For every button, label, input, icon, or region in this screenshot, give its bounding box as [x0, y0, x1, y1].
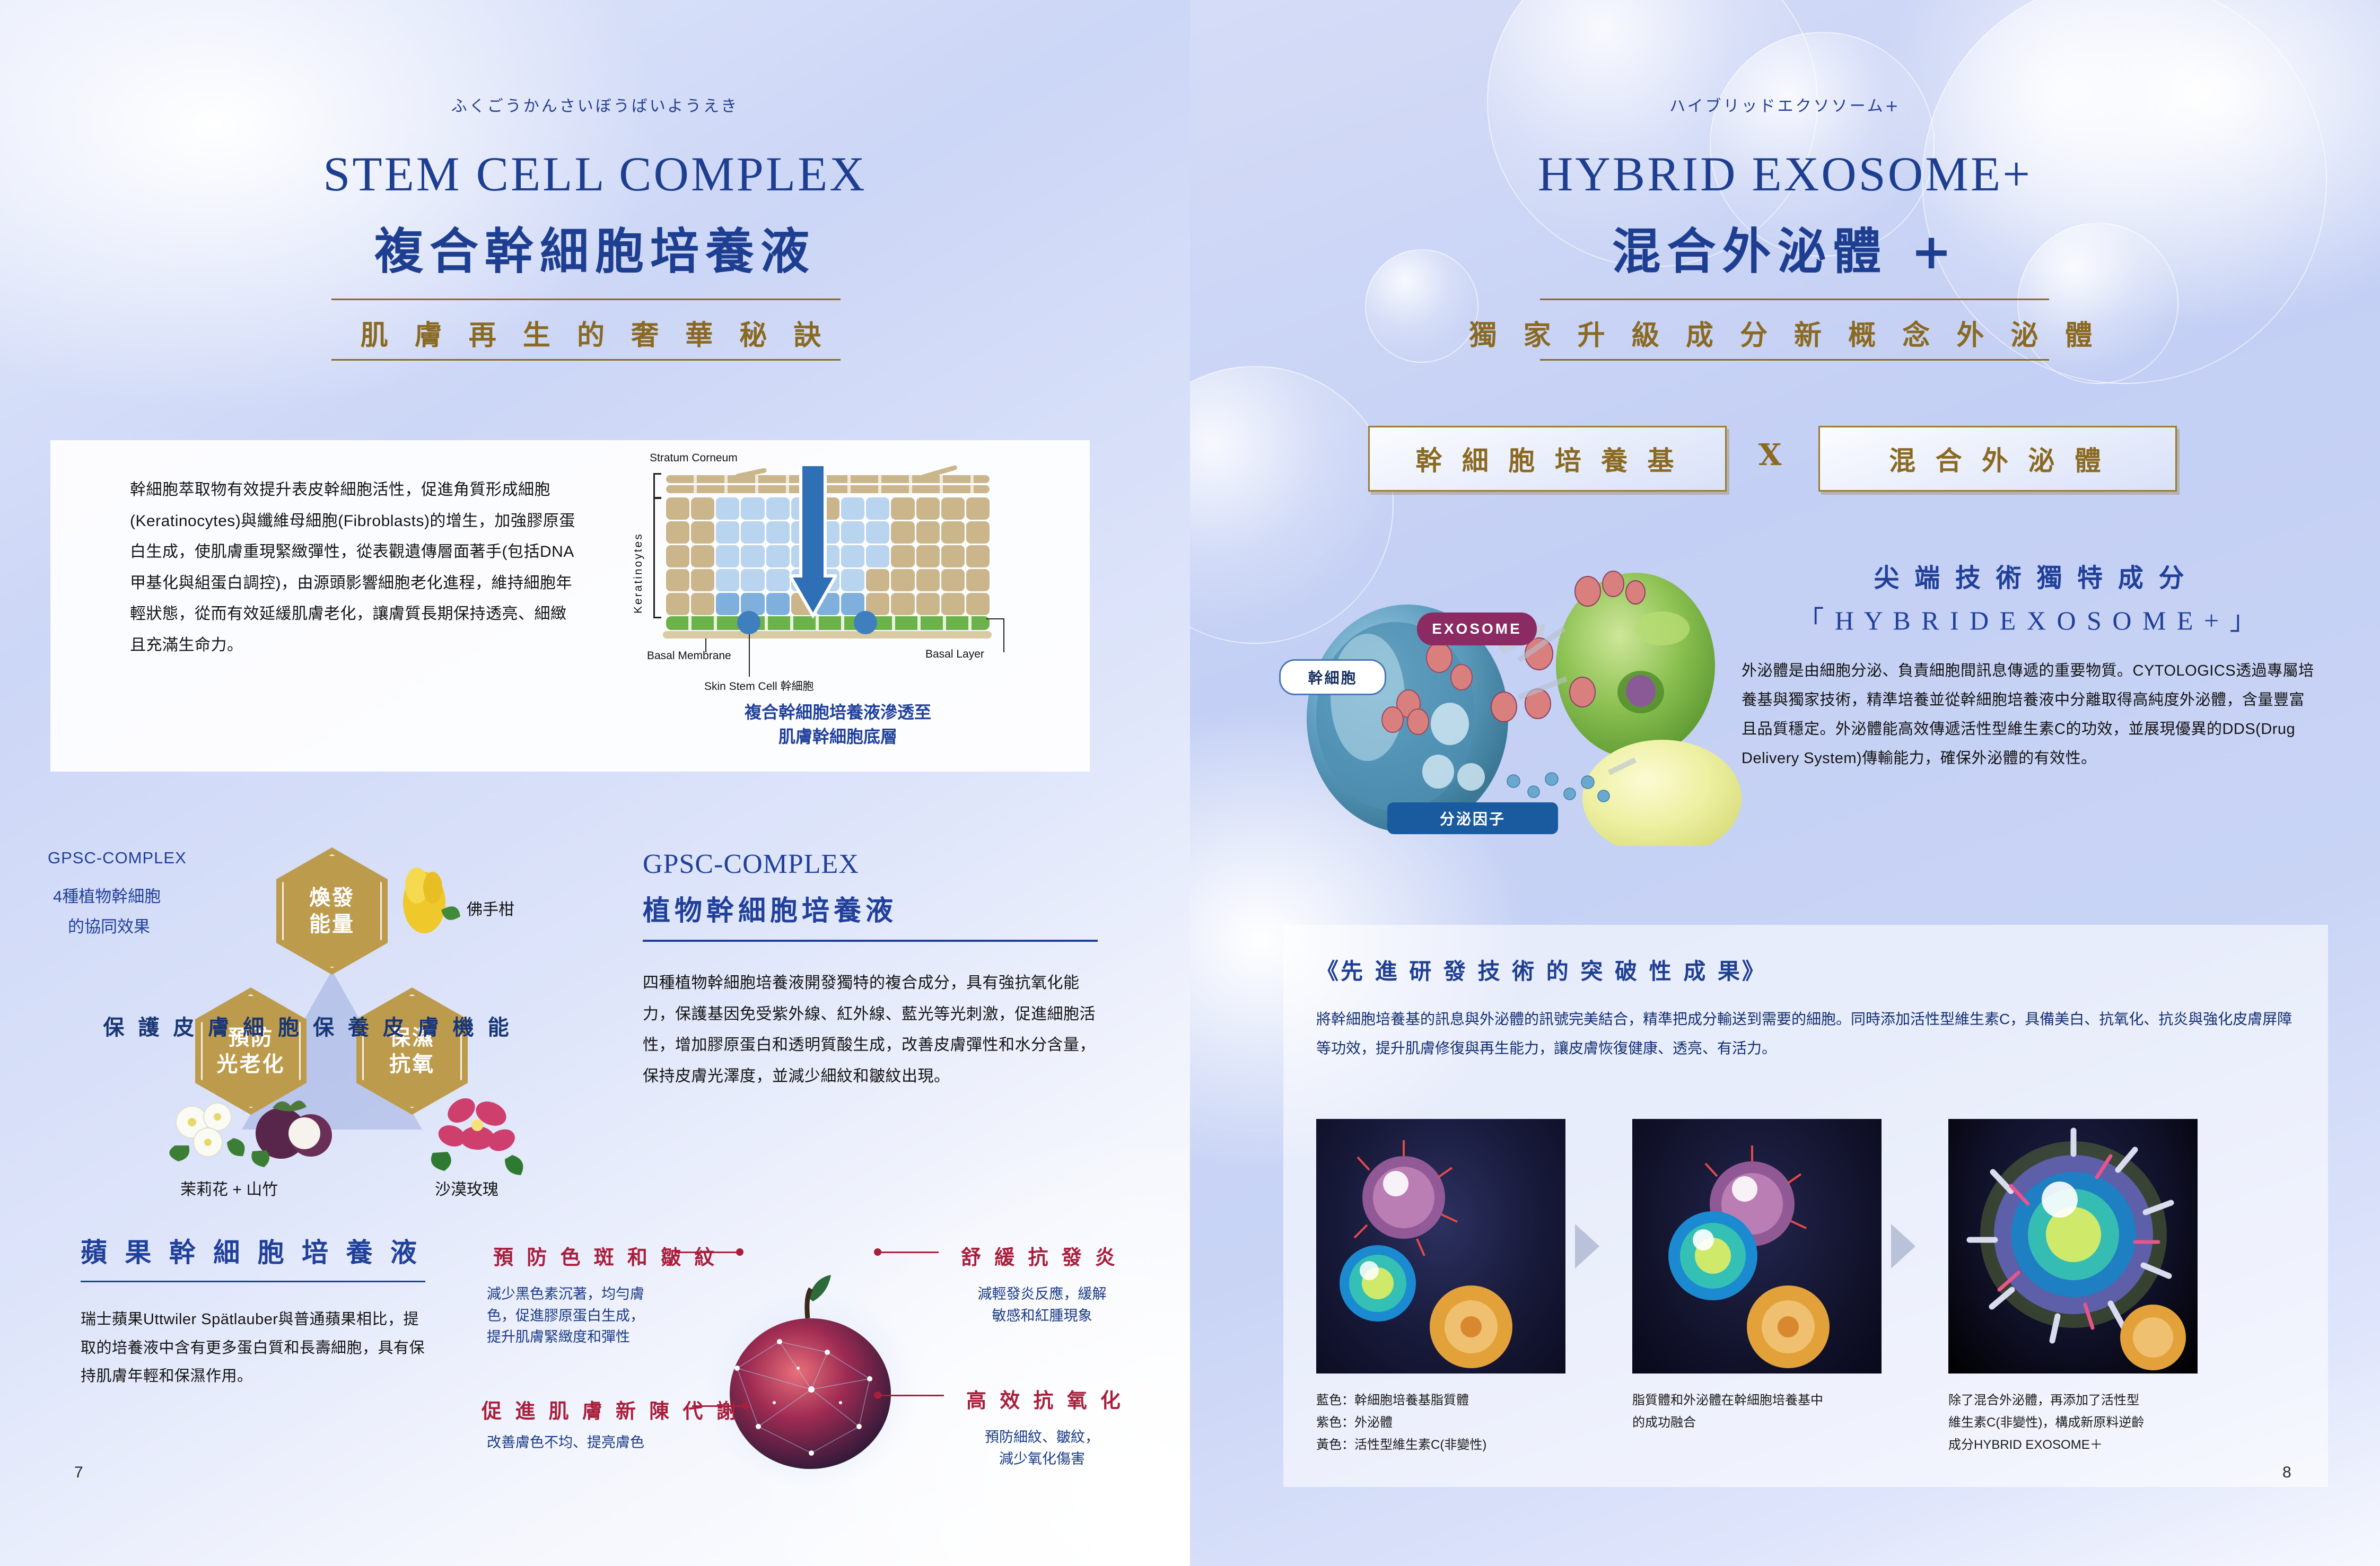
leader-basal-layer — [986, 618, 1004, 652]
intro-body-text: 幹細胞萃取物有效提升表皮幹細胞活性，促進角質形成細胞(Keratinocytes… — [130, 475, 578, 661]
tag-secretion-factor-label: 分泌因子 — [1440, 808, 1506, 829]
left-chinese-title: 複合幹細胞培養液 — [0, 212, 1190, 283]
right-chinese-title-text: 混合外泌體 + — [1190, 212, 2380, 283]
left-title-divider-top — [331, 299, 841, 300]
right-kana-text: ハイブリッドエクソソーム+ — [1190, 93, 2380, 116]
plant-label-desert-rose: 沙漠玫瑰 — [435, 1176, 498, 1200]
tag-stem-cell-label: 幹細胞 — [1308, 667, 1357, 688]
right-english-title-text: HYBRID EXOSOME+ — [1190, 146, 2380, 202]
apple-callout-3-dot — [874, 1248, 881, 1256]
apple-callout-4-dot — [874, 1392, 881, 1399]
apple-callout-3-body: 減輕發炎反應，緩解 敏感和紅腫現象 — [955, 1283, 1130, 1326]
right-chinese-title: 混合外泌體 + — [1190, 212, 2380, 283]
apple-callout-2-dot — [742, 1402, 749, 1410]
mangosteen-icon — [249, 1084, 345, 1175]
right-subtitle: 獨 家 升 級 成 分 新 概 念 外 泌 體 — [1190, 313, 2380, 353]
apple-callout-3-heading: 舒 緩 抗 發 炎 — [961, 1241, 1118, 1270]
apple-callout-1-heading: 預 防 色 斑 和 皺 紋 — [493, 1241, 717, 1270]
result-panel-title: 《先 進 研 發 技 術 的 突 破 性 成 果》 — [1316, 953, 1766, 986]
stem-cell-marker-2 — [854, 611, 877, 634]
apple-callout-4-line — [880, 1395, 944, 1396]
bracket-stratum — [653, 473, 661, 498]
stem-cell-marker-1 — [737, 611, 760, 634]
micro-caption-3: 除了混合外泌體，再添加了活性型 維生素C(非變性)，構成新原料逆齡 成分HYBR… — [1948, 1389, 2144, 1456]
apple-callout-1-dot — [736, 1248, 743, 1256]
apple-section-divider — [81, 1281, 425, 1282]
skin-caption-line-2: 肌膚幹細胞底層 — [636, 724, 1039, 749]
left-chinese-title-text: 複合幹細胞培養液 — [0, 212, 1190, 283]
process-arrow-1-icon — [1575, 1224, 1599, 1268]
label-basal-layer: Basal Layer — [925, 648, 984, 661]
plant-label-bergamot: 佛手柑 — [467, 896, 514, 920]
gpsc-triangle-label-title: GPSC-COMPLEX — [48, 848, 187, 868]
apple-illustration — [700, 1267, 923, 1495]
left-page: ふくごうかんさいぼうばいようえき STEM CELL COMPLEX 複合幹細胞… — [0, 0, 1190, 1566]
hexagon-energy[interactable]: 煥發能量 — [276, 847, 388, 975]
skin-diagram: Stratum Corneum Keratinoytes Ba — [636, 461, 1039, 737]
tag-secretion-factor: 分泌因子 — [1387, 802, 1558, 834]
exosome-diagram: 幹細胞 EXOSOME 分泌因子 — [1270, 565, 1747, 846]
formula-left-box[interactable]: 幹 細 胞 培 養 基 — [1368, 426, 1727, 492]
apple-callout-3-line — [880, 1252, 939, 1253]
left-english-title: STEM CELL COMPLEX — [0, 146, 1190, 202]
left-subtitle: 肌 膚 再 生 的 奢 華 秘 訣 — [0, 313, 1190, 353]
label-skin-stem-cell: Skin Stem Cell 幹細胞 — [704, 678, 814, 694]
apple-section-body: 瑞士蘋果Uttwiler Spätlauber與普通蘋果相比，提取的培養液中含有… — [81, 1306, 431, 1391]
gpsc-triangle-label-line2: 的協同效果 — [68, 913, 150, 937]
gpsc-section-en-title: GPSC-COMPLEX — [643, 848, 859, 880]
right-english-title: HYBRID EXOSOME+ — [1190, 146, 2380, 202]
skin-diagram-caption: 複合幹細胞培養液滲透至 肌膚幹細胞底層 — [636, 700, 1039, 749]
right-subtitle-text: 獨 家 升 級 成 分 新 概 念 外 泌 體 — [1190, 313, 2380, 353]
apple-callout-4-heading: 高 效 抗 氧 化 — [966, 1384, 1124, 1413]
formula-operator: X — [1758, 438, 1781, 473]
apple-callout-2-heading: 促 進 肌 膚 新 陳 代 謝 — [482, 1395, 740, 1424]
tech-cn-title: 尖 端 技 術 獨 特 成 分 — [1742, 557, 2320, 594]
gpsc-section-cn-title: 植物幹細胞培養液 — [643, 888, 897, 928]
label-stratum-corneum: Stratum Corneum — [650, 452, 738, 465]
gpsc-section-body: 四種植物幹細胞培養液開發獨特的複合成分，具有強抗氧化能力，保護基因免受紫外線、紅… — [643, 968, 1098, 1092]
left-kana-text: ふくごうかんさいぼうばいようえき — [0, 93, 1190, 116]
apple-section-title: 蘋 果 幹 細 胞 培 養 液 — [81, 1231, 421, 1270]
left-kana: ふくごうかんさいぼうばいようえき — [0, 93, 1190, 116]
micro-image-2 — [1632, 1119, 1882, 1373]
apple-callout-4-body: 預防細紋、皺紋， 減少氧化傷害 — [955, 1427, 1130, 1469]
penetration-arrow-icon — [789, 465, 837, 624]
left-subtitle-text: 肌 膚 再 生 的 奢 華 秘 訣 — [0, 313, 1190, 353]
right-kana: ハイブリッドエクソソーム+ — [1190, 93, 2380, 116]
tag-exosome: EXOSOME — [1417, 613, 1537, 645]
formula-right-box[interactable]: 混 合 外 泌 體 — [1818, 426, 2177, 492]
gpsc-section-divider — [643, 940, 1098, 942]
leader-basal-membrane — [705, 638, 706, 652]
micro-caption-1: 藍色：幹細胞培養基脂質體 紫色：外泌體 黃色：活性型維生素C(非變性) — [1316, 1389, 1486, 1456]
right-page: ハイブリッドエクソソーム+ HYBRID EXOSOME+ 混合外泌體 + 獨 … — [1190, 0, 2380, 1566]
process-arrow-2-icon — [1891, 1224, 1915, 1268]
formula-right-box-label: 混 合 外 泌 體 — [1889, 440, 2106, 478]
micro-caption-2: 脂質體和外泌體在幹細胞培養基中 的成功融合 — [1632, 1389, 1823, 1434]
right-title-divider-top — [1540, 299, 2049, 300]
result-panel-body: 將幹細胞培養基的訊息與外泌體的訊號完美結合，精準把成分輸送到需要的細胞。同時添加… — [1316, 1005, 2296, 1063]
basal-membrane-line — [663, 631, 992, 638]
left-english-title-text: STEM CELL COMPLEX — [0, 146, 1190, 202]
tech-body-text: 外泌體是由細胞分泌、負責細胞間訊息傳遞的重要物質。CYTOLOGICS透過專屬培… — [1742, 657, 2315, 773]
skin-caption-line-1: 複合幹細胞培養液滲透至 — [636, 700, 1039, 724]
apple-callout-2-line — [692, 1405, 743, 1407]
right-page-number: 8 — [2282, 1464, 2291, 1482]
gpsc-triangle-label-line1: 4種植物幹細胞 — [53, 883, 161, 907]
apple-callout-1-body: 減少黑色素沉著，均勻膚 色，促進膠原蛋白生成， 提升肌膚緊緻度和彈性 — [487, 1283, 644, 1348]
micro-image-3 — [1948, 1119, 2198, 1373]
left-page-number: 7 — [74, 1464, 83, 1482]
triangle-center-text: 保 護 皮 膚 細 胞 保 養 皮 膚 機 能 — [80, 1010, 536, 1041]
plant-label-jasmine-mangosteen: 茉莉花 + 山竹 — [180, 1176, 278, 1200]
formula-left-box-label: 幹 細 胞 培 養 基 — [1415, 440, 1679, 478]
bracket-keratinocytes — [653, 497, 661, 618]
leader-stem-cell — [749, 634, 750, 677]
tag-exosome-label: EXOSOME — [1432, 620, 1522, 637]
desert-rose-icon — [424, 1081, 530, 1176]
label-basal-membrane: Basal Membrane — [647, 650, 731, 662]
right-title-divider-bottom — [1540, 359, 2049, 361]
tech-en-title: 「 H Y B R I D E X O S O M E + 」 — [1736, 599, 2320, 637]
label-keratinocytes: Keratinoytes — [632, 500, 645, 614]
left-title-divider-bottom — [331, 359, 841, 361]
apple-callout-1-line — [675, 1252, 737, 1253]
tag-stem-cell: 幹細胞 — [1279, 659, 1386, 695]
bergamot-icon — [393, 864, 462, 944]
micro-image-1 — [1316, 1119, 1565, 1373]
hexagon-energy-label: 煥發能量 — [309, 885, 355, 938]
apple-callout-2-body: 改善膚色不均、提亮膚色 — [487, 1432, 644, 1454]
